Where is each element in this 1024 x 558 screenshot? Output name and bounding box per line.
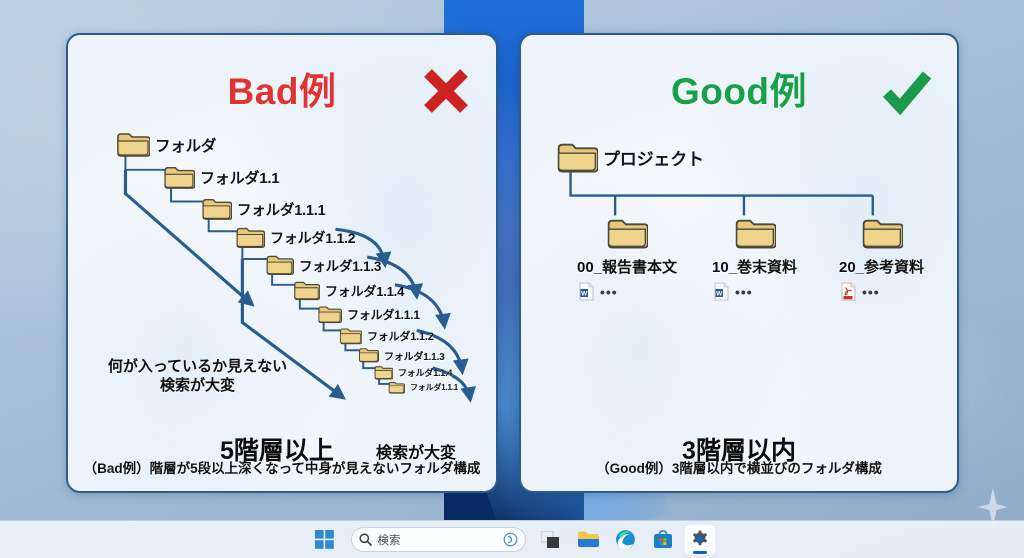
svg-text:W: W: [716, 291, 723, 298]
good-child-folder[interactable]: 00_報告書本文 W •••: [577, 217, 677, 301]
folder-icon: [556, 141, 598, 174]
tree-node-label: フォルダ1.1.4: [325, 281, 404, 300]
bad-caption: （Bad例）階層が5段以上深くなって中身が見えないフォルダ構成: [68, 457, 496, 477]
tree-node-label: フォルダ1.1.1: [237, 199, 325, 220]
good-child-label: 00_報告書本文: [577, 256, 677, 277]
folder-icon: [317, 305, 342, 324]
good-child-files: W •••: [577, 282, 618, 301]
tree-node-label: フォルダ: [155, 134, 216, 156]
good-caption: （Good例）3階層以内で横並びのフォルダ構成: [521, 457, 957, 477]
good-root-label: プロジェクト: [603, 145, 704, 170]
folder-icon: [201, 197, 232, 221]
svg-text:W: W: [581, 291, 588, 298]
good-example-panel: Good例 プロジェクト 00_報告書本文 W: [519, 33, 959, 493]
good-child-files: W •••: [712, 282, 753, 301]
tree-node-label: フォルダ1.1.2: [367, 328, 434, 344]
good-child-files: •••: [839, 282, 880, 301]
windows-logo-icon: [315, 530, 334, 549]
tree-node-label: フォルダ1.1.1: [347, 306, 420, 323]
check-mark-icon: [881, 65, 933, 117]
tree-node[interactable]: フォルダ1.1.1: [388, 381, 458, 394]
folder-icon: [265, 254, 294, 276]
start-button[interactable]: [310, 525, 340, 555]
tree-node[interactable]: フォルダ1.1.4: [374, 365, 452, 380]
folder-icon: [734, 217, 776, 250]
pdf-document-icon: [841, 282, 856, 301]
bad-note-text1: 何が入っているか見えない: [90, 357, 305, 376]
copilot-icon[interactable]: [503, 532, 518, 547]
folder-icon: [235, 226, 265, 249]
bad-example-panel: Bad例: [66, 33, 498, 493]
tree-node[interactable]: フォルダ1.1.3: [265, 254, 381, 276]
windows-taskbar: 検索: [0, 520, 1024, 558]
settings-icon[interactable]: [685, 525, 715, 555]
tree-node[interactable]: フォルダ1.1: [163, 165, 279, 190]
good-root-node[interactable]: プロジェクト: [556, 141, 704, 174]
more-files-indicator: •••: [862, 285, 880, 299]
tree-node[interactable]: フォルダ: [116, 131, 216, 158]
bad-note-text2: 検索が大変: [90, 376, 305, 395]
search-icon: [359, 533, 372, 546]
tree-node-label: フォルダ1.1.3: [299, 255, 381, 275]
edge-browser-icon[interactable]: [611, 525, 641, 555]
good-child-folder[interactable]: 20_参考資料 •••: [839, 217, 924, 301]
file-explorer-icon[interactable]: [574, 525, 604, 555]
folder-icon: [293, 280, 320, 301]
search-input-text: 検索: [378, 532, 497, 548]
tree-node-label: フォルダ1.1: [200, 167, 279, 188]
tree-node[interactable]: フォルダ1.1.2: [235, 226, 355, 249]
good-child-label: 20_参考資料: [839, 256, 924, 277]
good-child-folder[interactable]: 10_巻末資料 W •••: [712, 217, 797, 301]
folder-icon: [606, 217, 648, 250]
tree-node[interactable]: フォルダ1.1.4: [293, 280, 404, 301]
tree-node-label: フォルダ1.1.3: [384, 348, 444, 363]
folder-icon: [861, 217, 903, 250]
tree-node-label: フォルダ1.1.2: [270, 228, 355, 248]
search-input[interactable]: 検索: [351, 527, 526, 552]
word-document-icon: W: [714, 282, 729, 301]
good-child-label: 10_巻末資料: [712, 256, 797, 277]
folder-icon: [116, 131, 150, 158]
microsoft-store-icon[interactable]: [648, 525, 678, 555]
tree-node-label: フォルダ1.1.4: [398, 366, 452, 379]
folder-icon: [374, 365, 393, 380]
tree-node[interactable]: フォルダ1.1.1: [317, 305, 420, 324]
task-view-icon[interactable]: [537, 525, 567, 555]
cross-mark-icon: [420, 65, 472, 117]
tree-node[interactable]: フォルダ1.1.3: [358, 347, 444, 363]
folder-icon: [163, 165, 195, 190]
tree-node[interactable]: フォルダ1.1.1: [201, 197, 325, 221]
bad-note-line1: 何が入っているか見えない 検索が大変: [90, 357, 305, 395]
tree-node-label: フォルダ1.1.1: [410, 382, 458, 393]
word-document-icon: W: [579, 282, 594, 301]
folder-icon: [339, 327, 362, 345]
more-files-indicator: •••: [600, 285, 618, 299]
folder-icon: [388, 381, 405, 394]
more-files-indicator: •••: [735, 285, 753, 299]
tree-node[interactable]: フォルダ1.1.2: [339, 327, 434, 345]
folder-icon: [358, 347, 379, 363]
